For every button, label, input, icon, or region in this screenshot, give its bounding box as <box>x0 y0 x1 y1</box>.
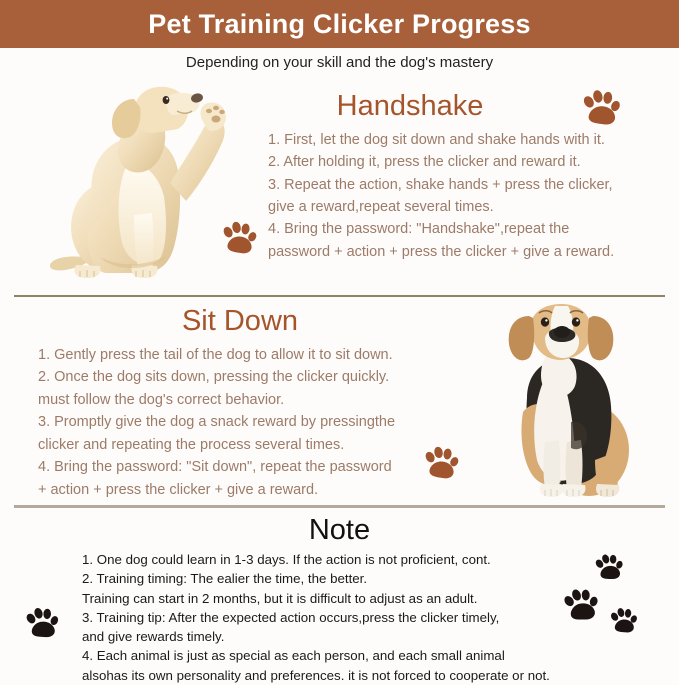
paw-note-left-icon <box>18 600 65 647</box>
body-line: password + action + press the clicker + … <box>268 241 668 263</box>
body-line: 1. One dog could learn in 1-3 days. If t… <box>82 550 612 569</box>
section-body-handshake: 1. First, let the dog sit down and shake… <box>268 129 668 263</box>
body-line: 1. First, let the dog sit down and shake… <box>268 129 668 151</box>
body-line: 4. Bring the password: "Handshake",repea… <box>268 218 668 240</box>
body-line: 1. Gently press the tail of the dog to a… <box>38 344 438 366</box>
paw-handshake-right-icon <box>575 83 627 135</box>
body-line: 3. Training tip: After the expected acti… <box>82 608 612 627</box>
section-handshake: Handshake 1. First, let the dog sit down… <box>0 48 679 295</box>
body-line: give a reward,repeat several times. <box>268 196 668 218</box>
dog-labrador-image <box>22 75 252 290</box>
paw-handshake-left-icon <box>216 216 262 262</box>
page-title: Pet Training Clicker Progress <box>148 11 530 38</box>
body-line: + action + press the clicker + give a re… <box>38 479 438 501</box>
body-line: Training can start in 2 months, but it i… <box>82 589 612 608</box>
body-line: and give rewards timely. <box>82 627 612 646</box>
body-line: must follow the dog's correct behavior. <box>38 389 438 411</box>
body-line: 2. Once the dog sits down, pressing the … <box>38 366 438 388</box>
body-line: alsohas its own personality and preferen… <box>82 666 612 685</box>
body-line: 2. After holding it, press the clicker a… <box>268 151 668 173</box>
section-sit-down: Sit Down 1. Gently press the tail of the… <box>0 297 679 505</box>
body-line: 3. Promptly give the dog a snack reward … <box>38 411 438 433</box>
paw-sitdown-icon <box>418 441 464 487</box>
body-line: 4. Bring the password: "Sit down", repea… <box>38 456 438 478</box>
body-line: 3. Repeat the action, shake hands + pres… <box>268 174 668 196</box>
header-bar: Pet Training Clicker Progress <box>0 0 679 48</box>
paw-note-bot-right-icon <box>604 602 642 640</box>
body-line: 2. Training timing: The ealier the time,… <box>82 569 612 588</box>
section-title-note: Note <box>0 516 679 545</box>
dog-beagle-image <box>471 302 651 500</box>
section-body-note: 1. One dog could learn in 1-3 days. If t… <box>82 550 612 685</box>
section-title-handshake: Handshake <box>260 92 560 121</box>
section-body-sit-down: 1. Gently press the tail of the dog to a… <box>38 344 438 501</box>
infographic-page: Pet Training Clicker Progress Depending … <box>0 0 679 668</box>
body-line: clicker and repeating the process severa… <box>38 434 438 456</box>
body-line: 4. Each animal is just as special as eac… <box>82 646 612 665</box>
section-title-sit-down: Sit Down <box>90 307 390 336</box>
